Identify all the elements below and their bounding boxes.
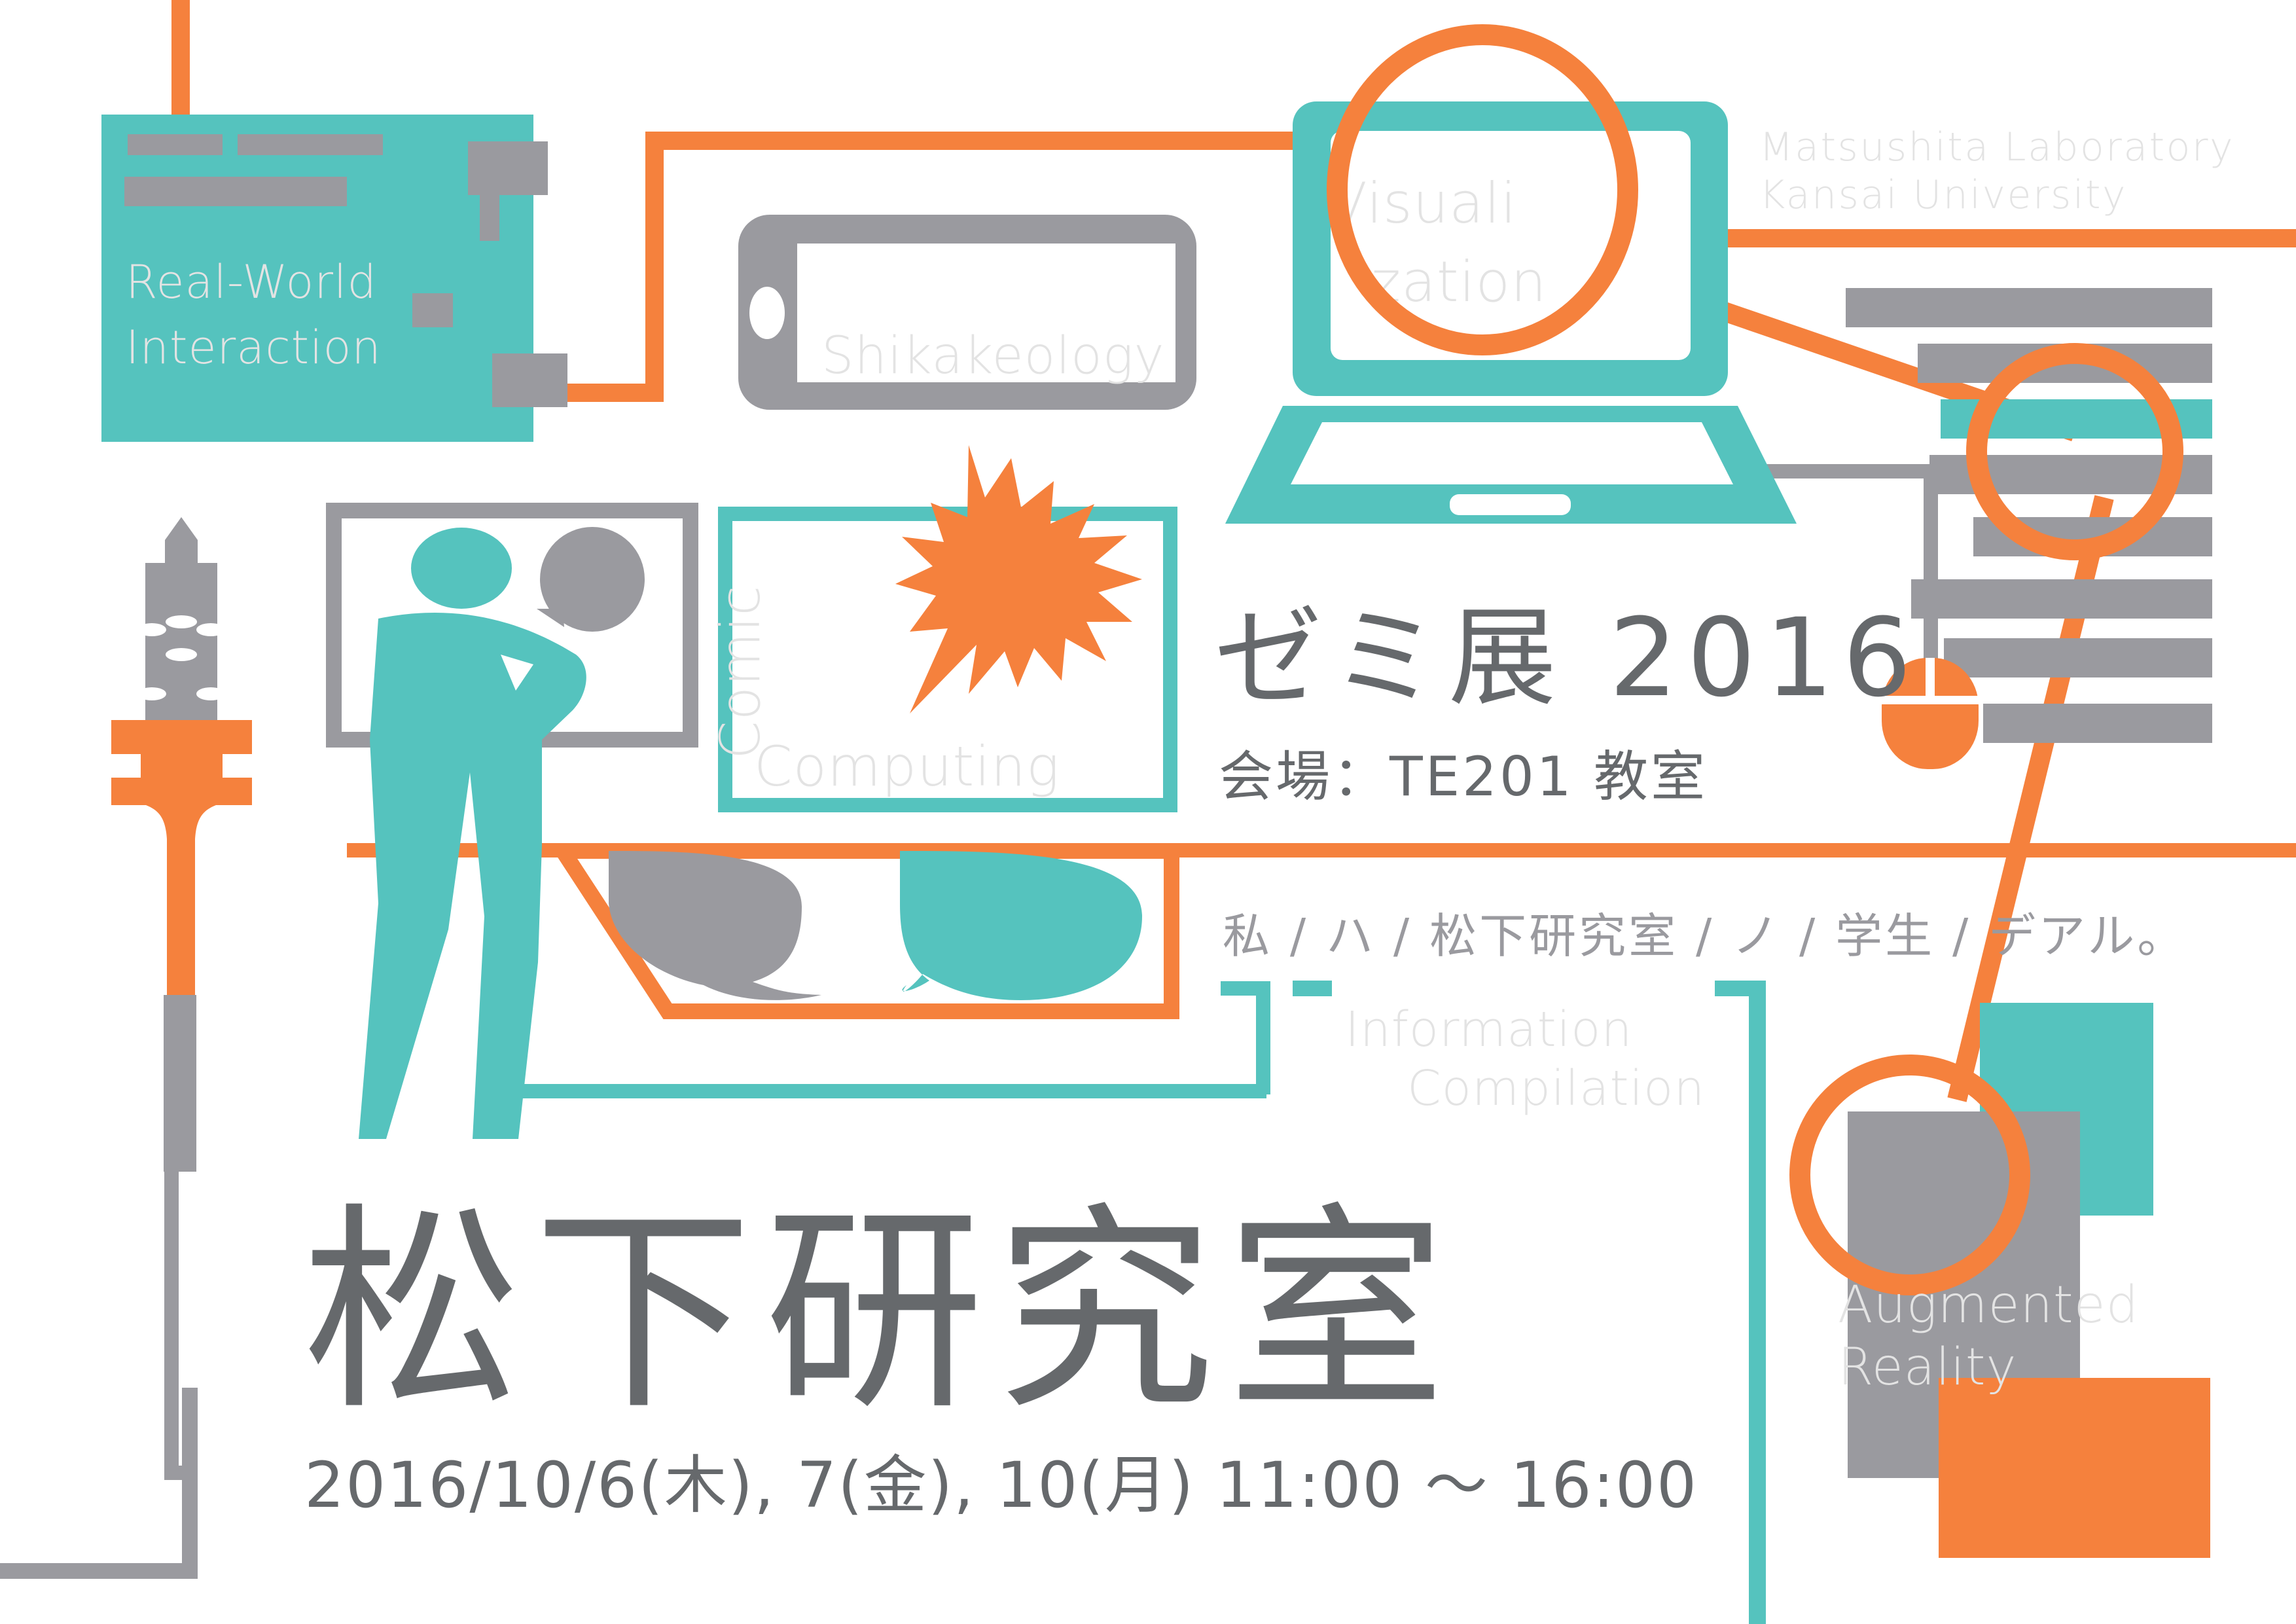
information-compilation-label-line2: Compilation — [1407, 1060, 1705, 1117]
comic-label: Comic — [708, 585, 772, 759]
doc-line-7 — [1983, 704, 2212, 743]
circuit-pad-4 — [412, 293, 453, 327]
soldering-vent-6 — [196, 687, 225, 700]
affiliation-line-2: Kansai University — [1759, 172, 2127, 218]
soldering-vent-4 — [166, 648, 197, 661]
soldering-vent-1 — [166, 615, 197, 628]
augmented-reality-label-line2: Reality — [1838, 1338, 2017, 1397]
lab-name-title: 松下研究室 — [302, 1185, 1458, 1440]
doc-line-6 — [1944, 638, 2212, 677]
soldering-vent-5 — [137, 687, 166, 700]
visualization-label-line1: Visuali — [1329, 171, 1517, 236]
tick-teal-left — [1293, 981, 1332, 996]
doc-line-1 — [1846, 288, 2212, 327]
poster-canvas: Real-World Interaction Shikakeology Visu… — [0, 0, 2296, 1624]
circuit-chip — [480, 190, 499, 241]
ar-block-orange — [1939, 1378, 2210, 1558]
circuit-connector-right-top — [468, 141, 548, 195]
circuit-pad-1 — [128, 134, 223, 155]
augmented-reality-label-line1: Augmented — [1838, 1276, 2139, 1335]
doc-line-5 — [1911, 579, 2212, 619]
event-schedule: 2016/10/6(木), 7(金), 10(月) 11:00 〜 16:00 — [304, 1449, 1698, 1522]
event-venue: 会場：TE201 教室 — [1219, 745, 1708, 808]
laptop-screen — [1331, 131, 1691, 360]
event-title: ゼミ展 2016 — [1214, 595, 1920, 721]
soldering-vent-3 — [196, 623, 225, 636]
circuit-connector-right-bottom — [492, 353, 567, 407]
soldering-vent-2 — [137, 623, 166, 636]
affiliation-line-1: Matsushita Laboratory — [1759, 124, 2234, 170]
person-head — [411, 528, 512, 609]
tick-teal-right — [1715, 981, 1766, 996]
real-world-interaction-label-line1: Real-World — [126, 255, 377, 309]
wire-teal-under-bubbles — [497, 1084, 1266, 1098]
tablet-home-button — [749, 287, 785, 339]
shikakeology-label: Shikakeology — [821, 327, 1165, 386]
wire-laptop-right — [1728, 229, 2296, 247]
bubble-teal — [900, 851, 1142, 1000]
event-tagline: 私 / ハ / 松下研究室 / ノ / 学生 / デアル。 — [1223, 909, 2187, 964]
mouse-button-divider — [1926, 658, 1935, 698]
circuit-pad-3 — [124, 177, 347, 206]
real-world-interaction-label-line2: Interaction — [126, 321, 382, 374]
computing-label: Computing — [754, 734, 1060, 799]
soldering-cord — [164, 995, 196, 1172]
circuit-pad-2 — [238, 134, 383, 155]
laptop-keyboard — [1291, 422, 1733, 484]
wire-teal-vertical-bottom — [1749, 995, 1766, 1624]
laptop-trackpad — [1450, 494, 1571, 515]
information-compilation-label-line1: Information — [1345, 1001, 1632, 1058]
poster-artwork: Real-World Interaction Shikakeology Visu… — [0, 0, 2296, 1624]
